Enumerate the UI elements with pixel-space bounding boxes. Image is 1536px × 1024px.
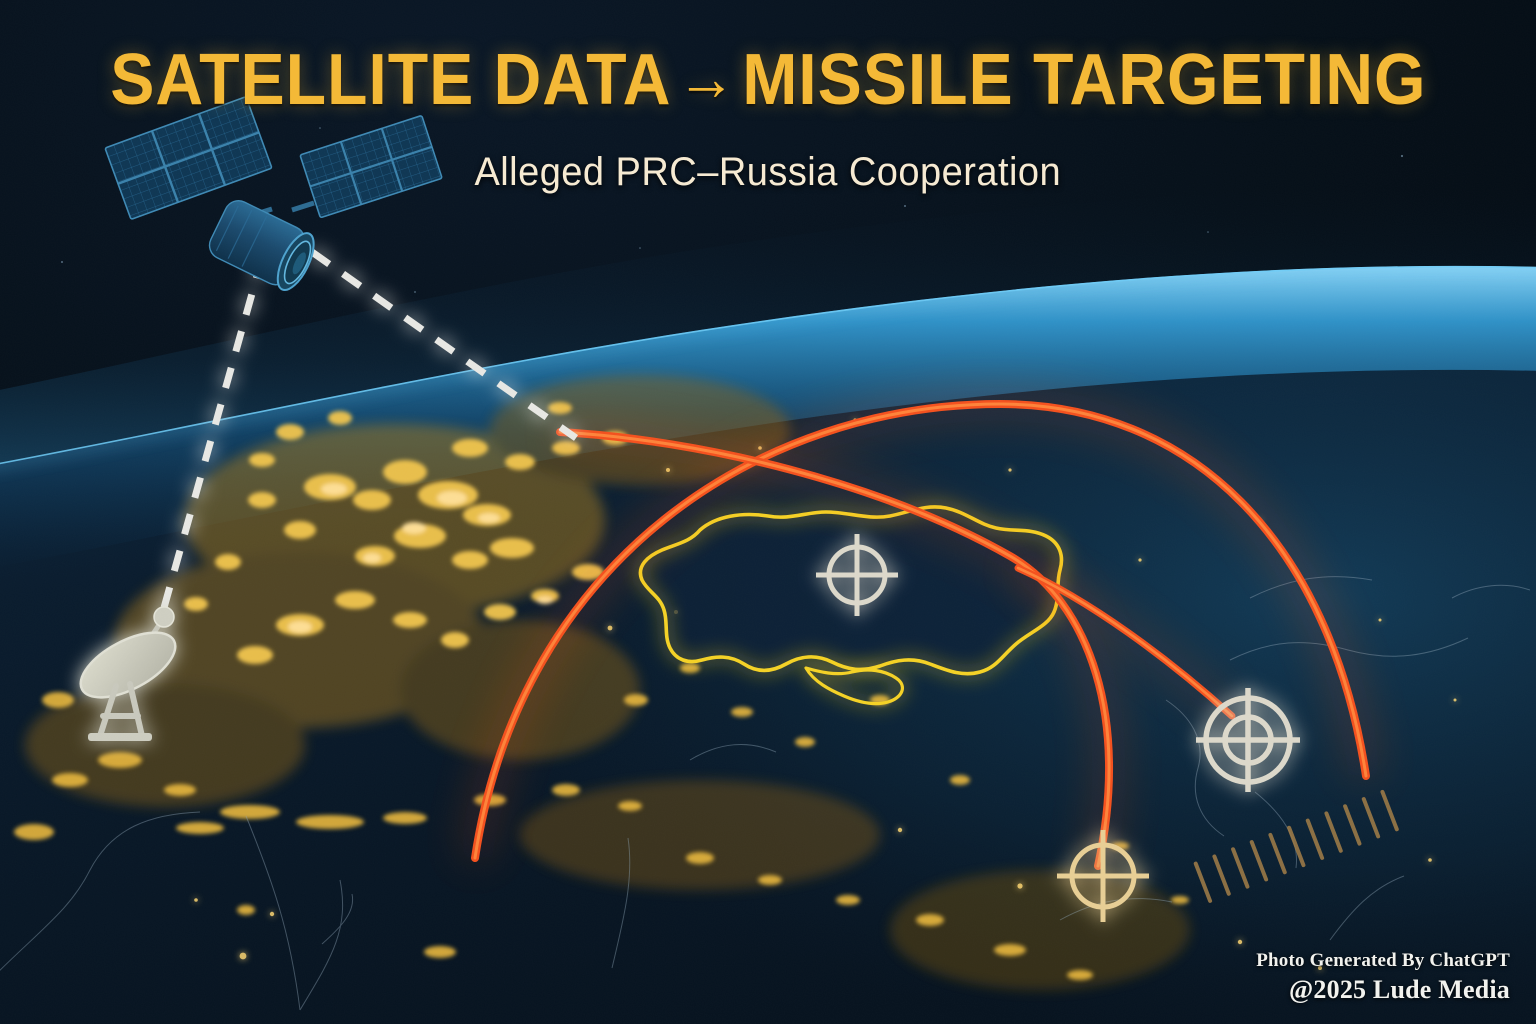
infographic-canvas: SATELLITE DATA→MISSILE TARGETING Alleged… [0,0,1536,1024]
film-grain [0,0,1536,1024]
scene-artwork [0,0,1536,1024]
